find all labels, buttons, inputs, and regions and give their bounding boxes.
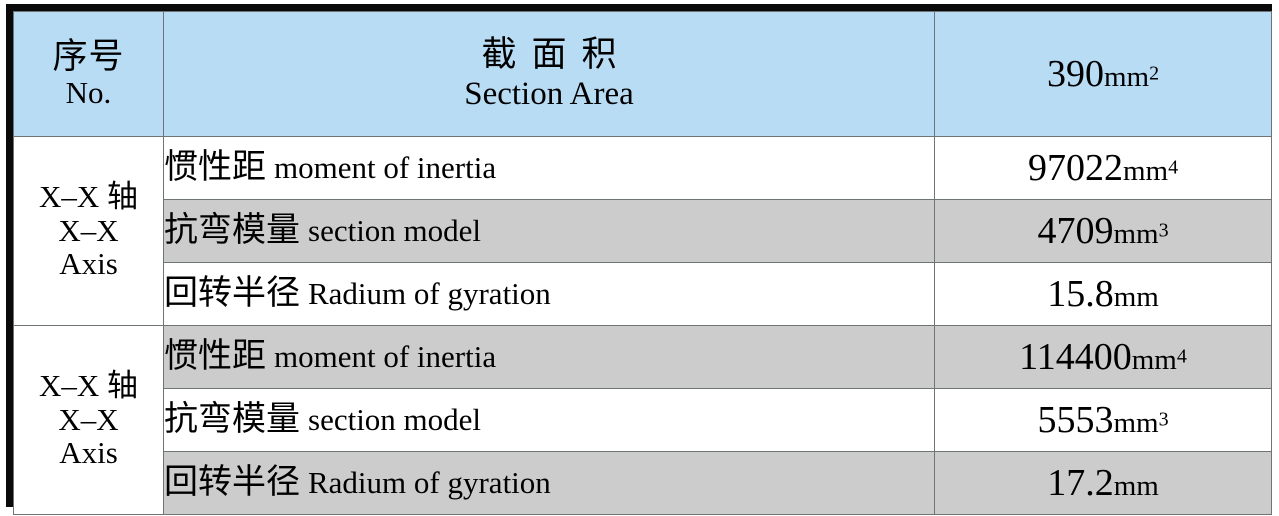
section-properties-table: 序号 No. 截面积 Section Area 390mm2 X–X 轴 [13,11,1272,515]
section-area-number: 390 [1047,53,1104,95]
value-number: 114400 [1019,336,1132,378]
property-value-cell: 5553mm3 [935,389,1272,452]
value-unit: mm [1114,281,1159,313]
property-name-cell: 回转半径 Radium of gyration [164,452,935,515]
table-row: X–X 轴 X–X Axis 惯性距 moment of inertia 970… [14,137,1272,200]
table-row: 回转半径 Radium of gyration 17.2mm [14,452,1272,515]
property-value-cell: 4709mm3 [935,200,1272,263]
property-value-cell: 97022mm4 [935,137,1272,200]
header-cell-no: 序号 No. [14,12,164,137]
table-outer-frame: 序号 No. 截面积 Section Area 390mm2 X–X 轴 [6,4,1272,507]
axis-label-group-0: X–X 轴 X–X Axis [14,137,164,326]
value-exponent: 3 [1159,220,1169,242]
property-name-cell: 回转半径 Radium of gyration [164,263,935,326]
property-name-cell: 惯性距 moment of inertia [164,137,935,200]
value-unit: mm [1114,470,1159,502]
property-name-cn: 回转半径 [164,464,300,501]
property-name-en: moment of inertia [274,339,496,374]
table-row: 抗弯模量 section model 4709mm3 [14,200,1272,263]
value-exponent: 4 [1177,346,1187,368]
property-name-en: moment of inertia [274,150,496,185]
table-row: 抗弯模量 section model 5553mm3 [14,389,1272,452]
property-name-en: Radium of gyration [308,276,551,311]
property-name-cn: 回转半径 [164,275,300,312]
property-name-cn: 惯性距 [164,149,266,186]
header-section-area-cn: 截面积 [164,36,934,73]
property-name-cn: 惯性距 [164,338,266,375]
table-header-row: 序号 No. 截面积 Section Area 390mm2 [14,12,1272,137]
value-exponent: 3 [1159,409,1169,431]
axis-label-line2: X–X [14,215,163,248]
property-name-cn: 抗弯模量 [164,401,300,438]
value-unit: mm [1132,344,1177,376]
axis-label-line2: X–X [14,404,163,437]
header-cell-section-area-value: 390mm2 [935,12,1272,137]
header-section-area-en: Section Area [164,77,934,112]
property-name-cell: 抗弯模量 section model [164,200,935,263]
value-number: 17.2 [1047,462,1114,504]
value-exponent: 4 [1168,157,1178,179]
value-number: 15.8 [1047,273,1114,315]
property-name-cell: 抗弯模量 section model [164,389,935,452]
value-unit: mm [1113,407,1158,439]
axis-label-line1: X–X 轴 [14,181,163,214]
property-name-en: section model [308,402,481,437]
table-row: X–X 轴 X–X Axis 惯性距 moment of inertia 114… [14,326,1272,389]
header-no-cn: 序号 [14,38,163,75]
property-value-cell: 15.8mm [935,263,1272,326]
table-row: 回转半径 Radium of gyration 15.8mm [14,263,1272,326]
property-name-en: Radium of gyration [308,465,551,500]
value-number: 97022 [1028,147,1123,189]
axis-label-line3: Axis [14,437,163,470]
header-cell-section-area: 截面积 Section Area [164,12,935,137]
value-unit: mm [1113,218,1158,250]
value-unit: mm [1123,155,1168,187]
section-area-unit: mm [1104,61,1149,93]
header-no-en: No. [14,77,163,110]
section-area-exponent: 2 [1149,63,1159,85]
property-name-en: section model [308,213,481,248]
property-value-cell: 114400mm4 [935,326,1272,389]
value-number: 4709 [1037,210,1113,252]
property-name-cell: 惯性距 moment of inertia [164,326,935,389]
axis-label-group-1: X–X 轴 X–X Axis [14,326,164,515]
value-number: 5553 [1037,399,1113,441]
axis-label-line1: X–X 轴 [14,370,163,403]
property-value-cell: 17.2mm [935,452,1272,515]
page-root: 序号 No. 截面积 Section Area 390mm2 X–X 轴 [0,0,1279,516]
property-name-cn: 抗弯模量 [164,212,300,249]
axis-label-line3: Axis [14,248,163,281]
